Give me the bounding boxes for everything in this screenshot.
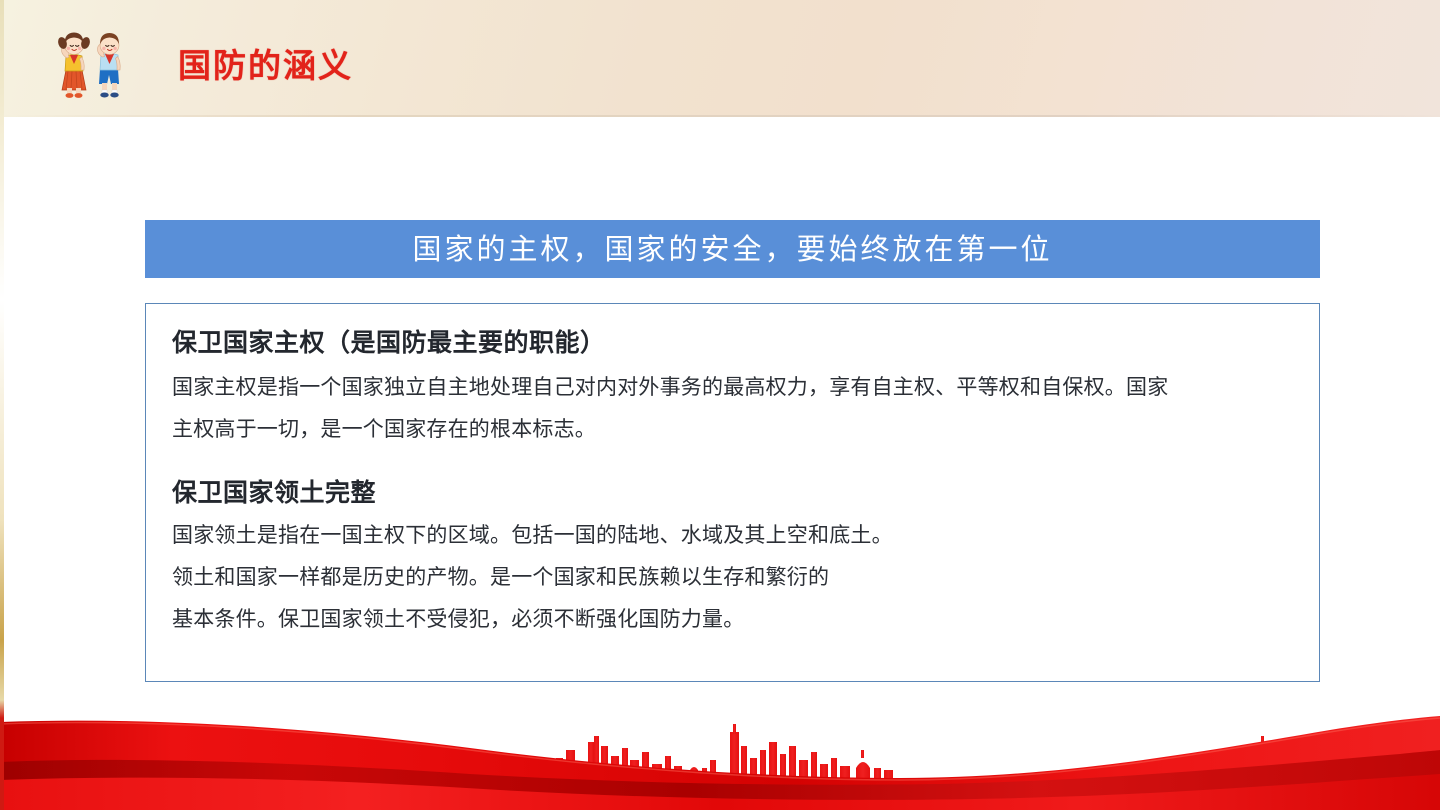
slide-root: 国防的涵义 国家的主权，国家的安全，要始终放在第一位 保卫国家主权（是国防最主要… bbox=[0, 0, 1440, 810]
section-body-sovereignty: 国家主权是指一个国家独立自主地处理自己对内对外事务的最高权力，享有自主权、平等权… bbox=[172, 366, 1293, 450]
body-line: 基本条件。保卫国家领土不受侵犯，必须不断强化国防力量。 bbox=[172, 598, 1293, 640]
page-title: 国防的涵义 bbox=[178, 47, 353, 85]
left-edge-accent bbox=[0, 0, 4, 810]
highlight-banner-text: 国家的主权，国家的安全，要始终放在第一位 bbox=[412, 232, 1052, 266]
slide-header: 国防的涵义 bbox=[0, 0, 1440, 117]
highlight-banner: 国家的主权，国家的安全，要始终放在第一位 bbox=[145, 220, 1320, 278]
saluting-children-icon bbox=[46, 26, 136, 98]
footer-decoration bbox=[0, 680, 1440, 810]
section-body-territory: 国家领土是指在一国主权下的区域。包括一国的陆地、水域及其上空和底土。 领土和国家… bbox=[172, 514, 1293, 640]
body-line: 领土和国家一样都是历史的产物。是一个国家和民族赖以生存和繁衍的 bbox=[172, 556, 1293, 598]
section-heading-sovereignty: 保卫国家主权（是国防最主要的职能） bbox=[172, 326, 1293, 360]
section-heading-territory: 保卫国家领土完整 bbox=[172, 476, 1293, 510]
body-line: 主权高于一切，是一个国家存在的根本标志。 bbox=[172, 408, 1293, 450]
body-line: 国家主权是指一个国家独立自主地处理自己对内对外事务的最高权力，享有自主权、平等权… bbox=[172, 366, 1293, 408]
body-line: 国家领土是指在一国主权下的区域。包括一国的陆地、水域及其上空和底土。 bbox=[172, 514, 1293, 556]
content-box: 保卫国家主权（是国防最主要的职能） 国家主权是指一个国家独立自主地处理自己对内对… bbox=[145, 303, 1320, 682]
